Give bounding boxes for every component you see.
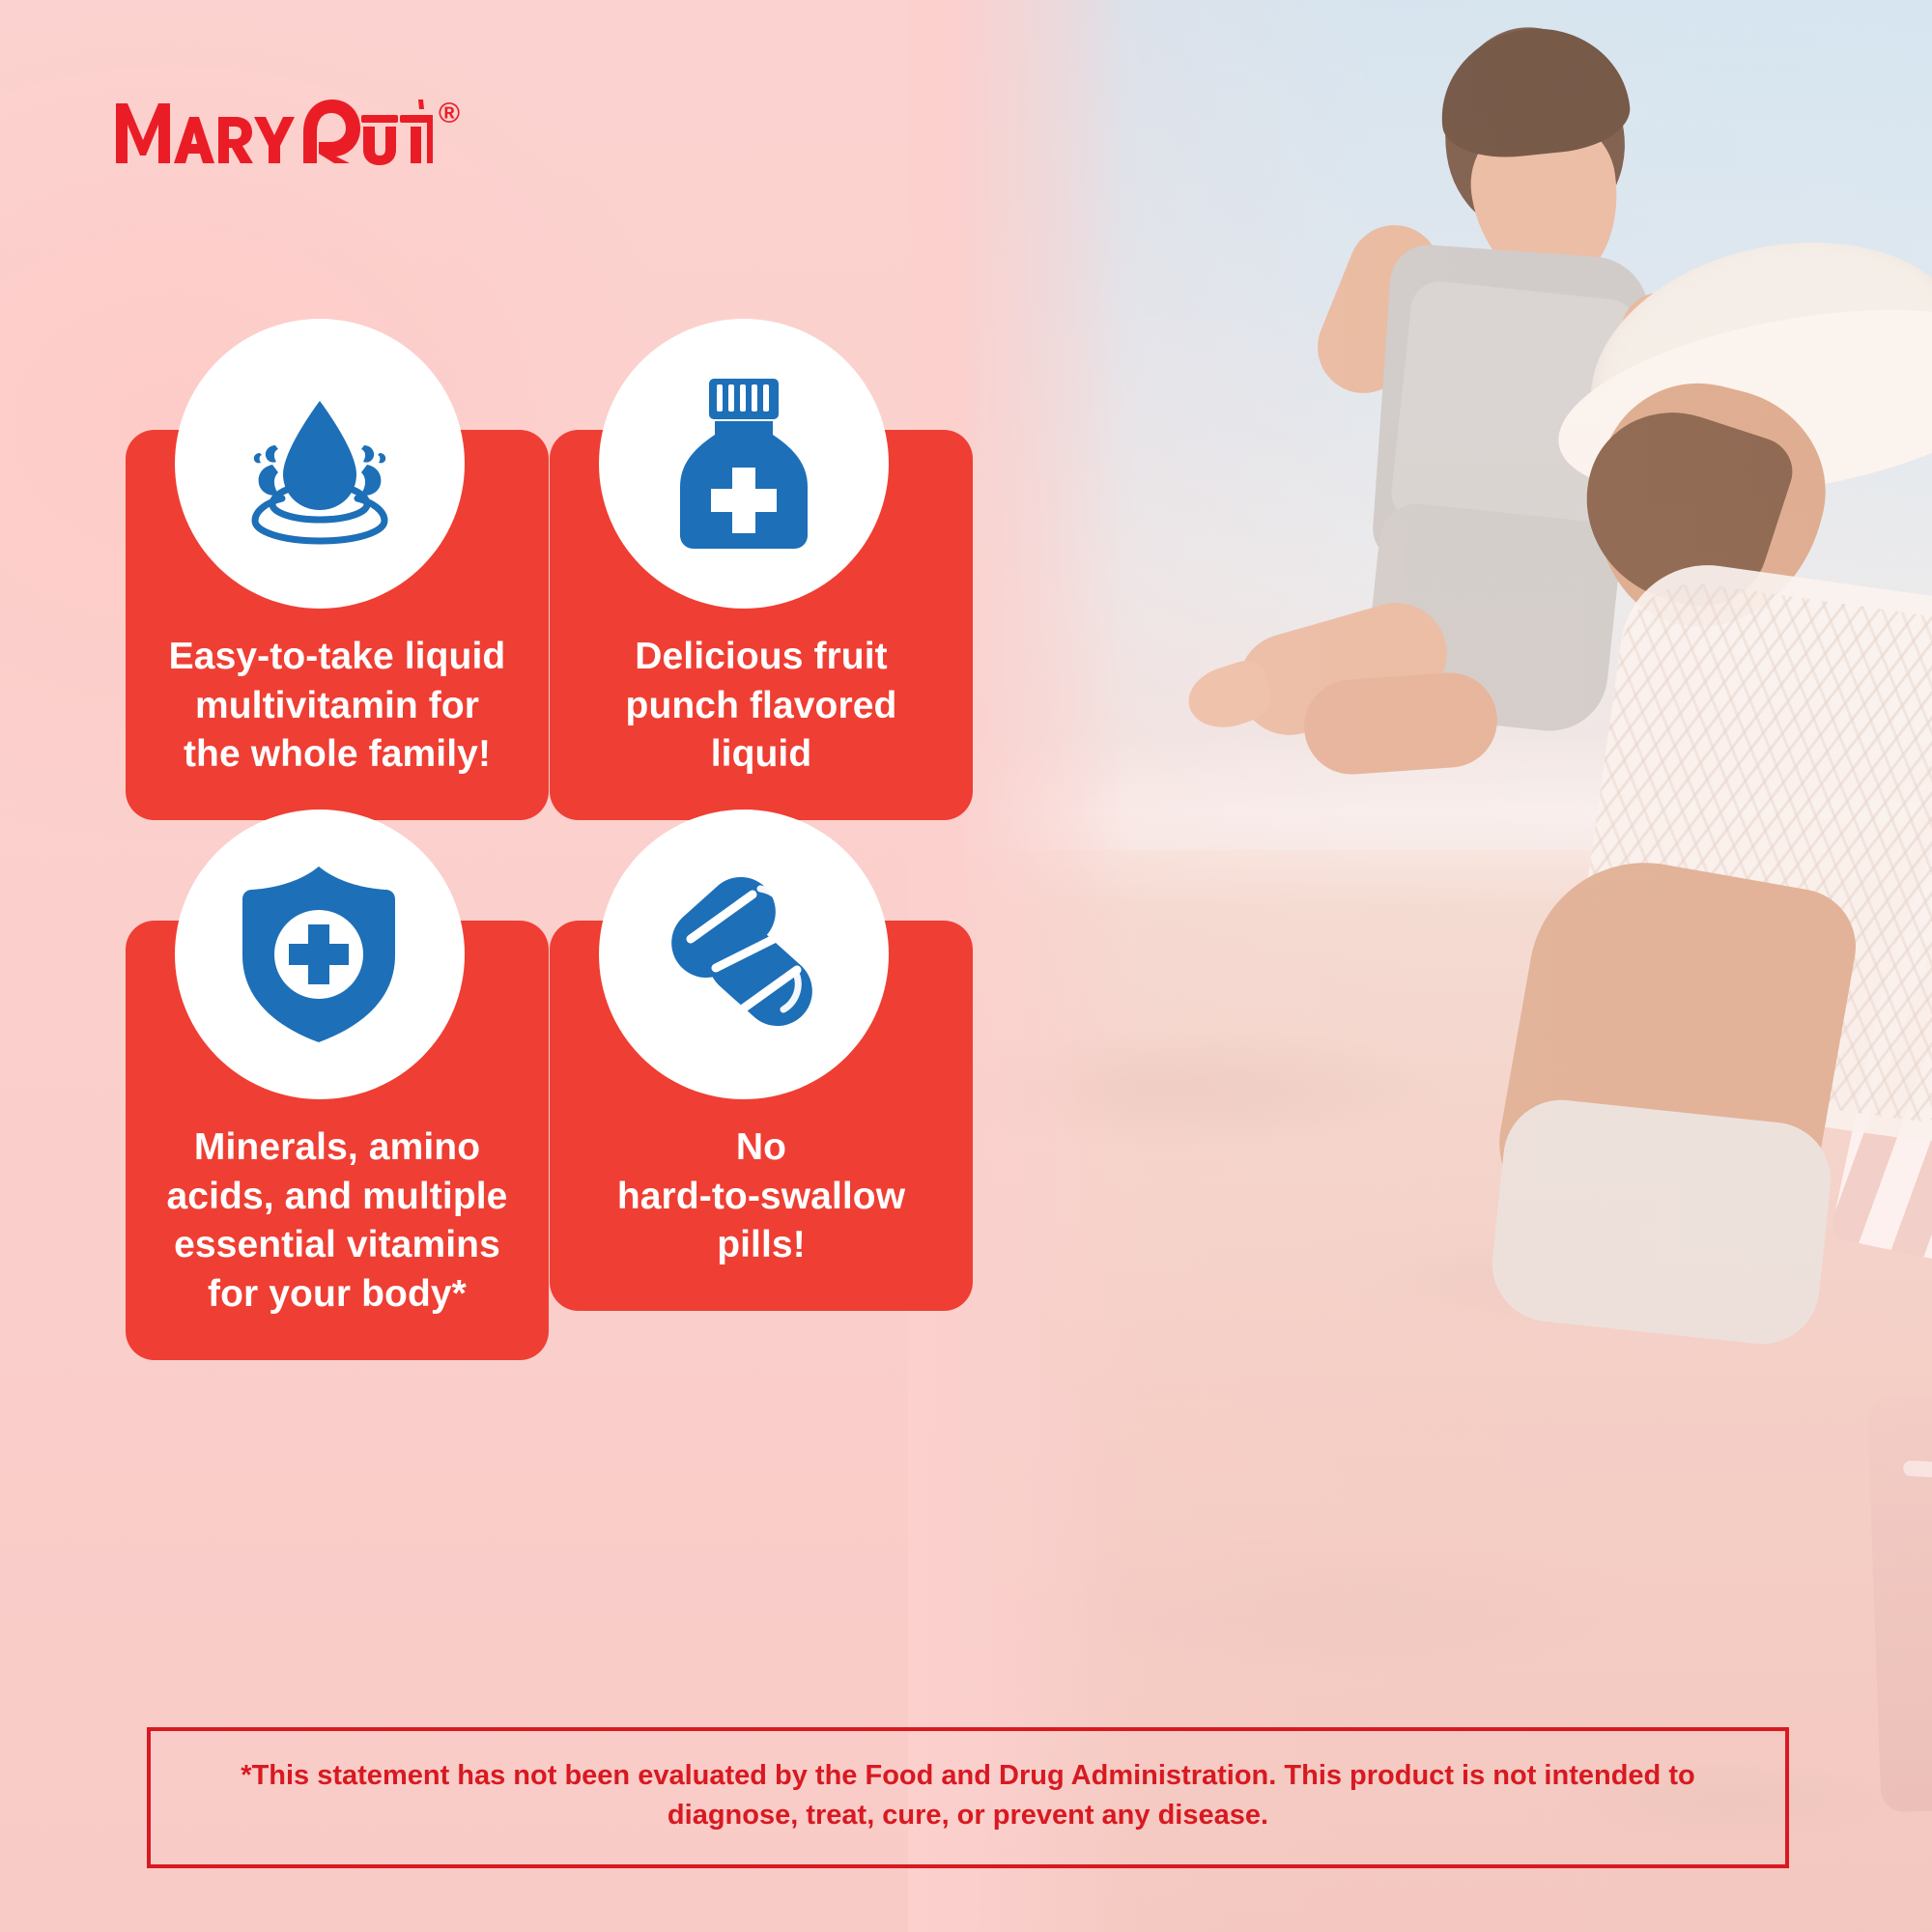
feature-card-liquid-multivitamin[interactable]: Easy-to-take liquid multivitamin for the… [126,319,513,734]
feature-card-grid: Easy-to-take liquid multivitamin for the… [126,319,937,1225]
feature-card-text: Minerals, amino acids, and multiple esse… [155,1123,520,1320]
fda-disclaimer-box: *This statement has not been evaluated b… [147,1727,1789,1868]
mother-shorts [1487,1094,1836,1350]
boy-leg-lower [1301,669,1500,778]
feature-card-text: Easy-to-take liquid multivitamin for the… [155,633,520,780]
supplement-bottle-icon [667,375,821,554]
brand-logo[interactable]: ® [114,92,460,167]
fda-disclaimer-text: *This statement has not been evaluated b… [189,1756,1747,1835]
feature-icon-circle [599,319,889,609]
feature-card-row-1: Easy-to-take liquid multivitamin for the… [126,319,937,734]
capsule-pills-icon [652,867,836,1041]
feature-card-no-pills[interactable]: No hard-to-swallow pills! [550,810,937,1225]
beach-family-photo [918,0,1932,1932]
feature-icon-circle [175,810,465,1099]
feature-icon-circle [175,319,465,609]
feature-card-minerals-amino-acids[interactable]: Minerals, amino acids, and multiple esse… [126,810,513,1225]
feature-card-text: No hard-to-swallow pills! [579,1123,944,1270]
feature-card-text: Delicious fruit punch flavored liquid [579,633,944,780]
water-drop-splash-icon [228,382,412,546]
feature-card-fruit-punch[interactable]: Delicious fruit punch flavored liquid [550,319,937,734]
registered-trademark-symbol: ® [439,98,460,130]
maryruths-wordmark [114,92,433,167]
product-infographic: ® Easy-to-take liquid multivitamin for t… [0,0,1932,1932]
shield-plus-icon [235,863,404,1046]
feature-icon-circle [599,810,889,1099]
feature-card-row-2: Minerals, amino acids, and multiple esse… [126,810,937,1225]
